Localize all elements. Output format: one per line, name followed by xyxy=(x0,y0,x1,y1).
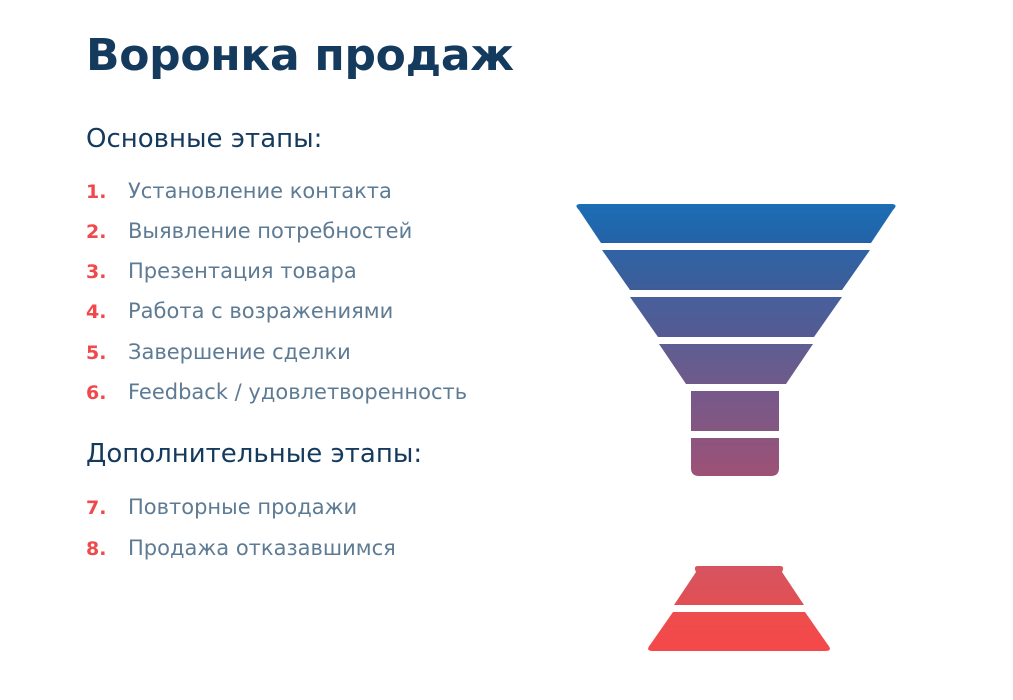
funnel-segment-4[interactable] xyxy=(659,344,813,384)
funnel-segment-3[interactable] xyxy=(630,297,842,337)
list-item[interactable]: 4. Работа с возражениями xyxy=(86,298,556,324)
step-number: 5. xyxy=(86,342,128,364)
list-item[interactable]: 3. Презентация товара xyxy=(86,258,556,284)
step-label: Работа с возражениями xyxy=(128,298,393,324)
step-number: 1. xyxy=(86,181,128,203)
step-label: Продажа отказавшимся xyxy=(128,535,396,561)
step-number: 7. xyxy=(86,497,128,519)
funnel-segment-1[interactable] xyxy=(576,204,895,243)
funnel-segment-5[interactable] xyxy=(691,391,779,431)
primary-step-list: 1. Установление контакта 2. Выявление по… xyxy=(86,178,556,406)
step-number: 6. xyxy=(86,382,128,404)
step-label: Повторные продажи xyxy=(128,494,357,520)
funnel-segment-8[interactable] xyxy=(648,612,830,651)
funnel-segment-7[interactable] xyxy=(674,566,804,605)
funnel-figure xyxy=(540,180,940,680)
step-label: Установление контакта xyxy=(128,178,392,204)
funnel-icon xyxy=(540,180,940,680)
list-item[interactable]: 6. Feedback / удовлетворенность xyxy=(86,379,556,405)
list-item[interactable]: 7. Повторные продажи xyxy=(86,494,556,520)
section-heading-primary: Основные этапы: xyxy=(86,124,556,155)
funnel-segment-2[interactable] xyxy=(602,250,870,290)
step-label: Презентация товара xyxy=(128,258,357,284)
list-item[interactable]: 1. Установление контакта xyxy=(86,178,556,204)
section-heading-secondary: Дополнительные этапы: xyxy=(86,439,556,470)
step-number: 8. xyxy=(86,538,128,560)
step-label: Feedback / удовлетворенность xyxy=(128,379,467,405)
step-number: 2. xyxy=(86,221,128,243)
text-column: Воронка продаж Основные этапы: 1. Устано… xyxy=(86,32,556,575)
list-item[interactable]: 2. Выявление потребностей xyxy=(86,218,556,244)
list-item[interactable]: 8. Продажа отказавшимся xyxy=(86,535,556,561)
slide-root: Воронка продаж Основные этапы: 1. Устано… xyxy=(0,0,1013,700)
step-number: 3. xyxy=(86,261,128,283)
step-label: Выявление потребностей xyxy=(128,218,412,244)
page-title: Воронка продаж xyxy=(86,32,556,80)
list-item[interactable]: 5. Завершение сделки xyxy=(86,339,556,365)
funnel-segment-6[interactable] xyxy=(691,438,779,476)
secondary-step-list: 7. Повторные продажи 8. Продажа отказавш… xyxy=(86,494,556,561)
step-label: Завершение сделки xyxy=(128,339,351,365)
step-number: 4. xyxy=(86,301,128,323)
